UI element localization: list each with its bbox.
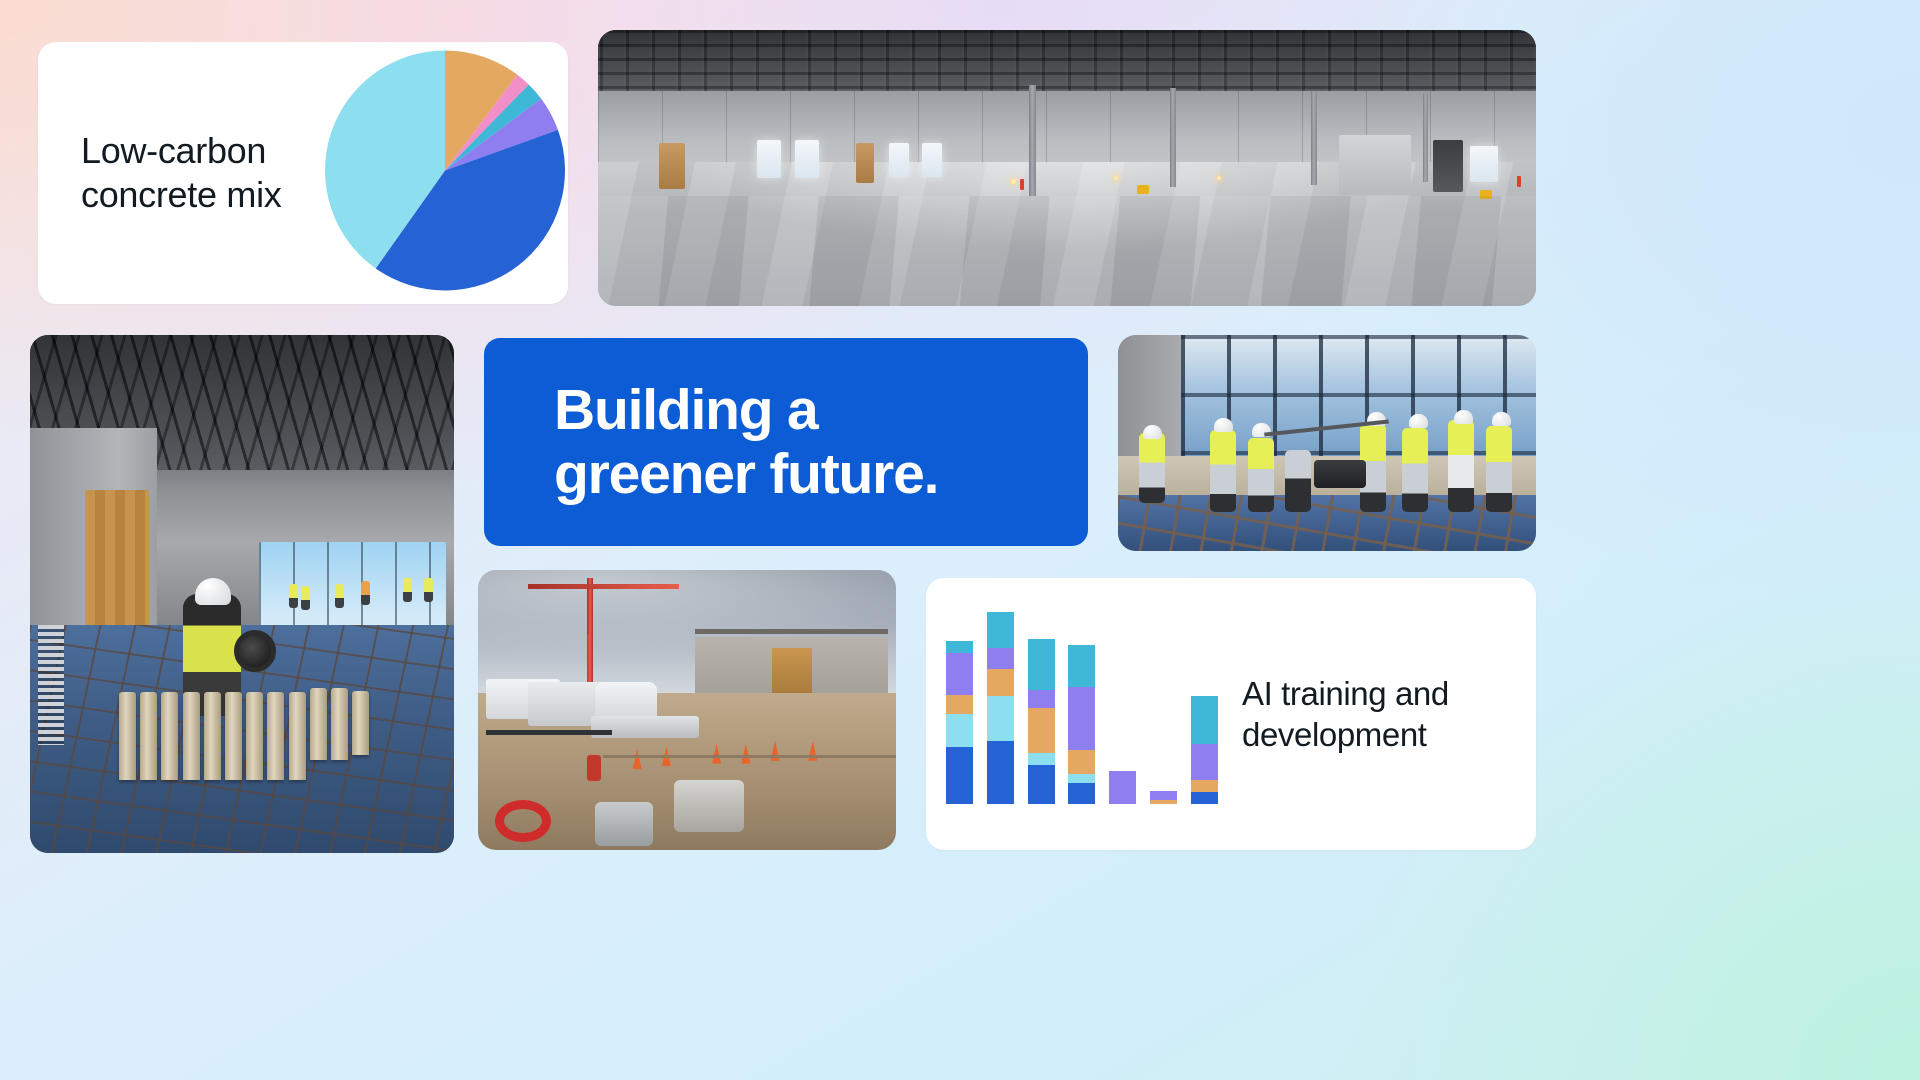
bar-segment [987,648,1014,669]
bar-segment [946,641,973,653]
bar-column [1150,791,1177,805]
pie-card-label: Low-carbon concrete mix [81,129,281,217]
bar-column [987,612,1014,804]
bar-segment [987,669,1014,696]
bar-segment [1109,771,1136,804]
bar-column [1028,639,1055,804]
bar-segment [1191,744,1218,780]
bar-column [1191,696,1218,804]
warehouse-panorama-photo [598,30,1536,306]
bar-segment [1150,800,1177,805]
bar-segment [1150,791,1177,800]
bar-segment [946,747,973,804]
bar-segment [1068,750,1095,774]
ai-training-card: AI training and development [926,578,1536,850]
bar-segment [1028,708,1055,753]
pie-chart [320,46,568,301]
collage-stage: Low-carbon concrete mix [0,0,1920,1080]
headline-text: Building a greener future. [554,378,938,507]
pie-chart-svg [320,46,568,296]
bar-segment [987,741,1014,804]
bar-segment [987,612,1014,648]
bar-segment [1028,765,1055,804]
bar-segment [1191,792,1218,804]
bar-segment [1028,690,1055,708]
headline-card: Building a greener future. [484,338,1088,546]
low-carbon-concrete-card: Low-carbon concrete mix [38,42,568,304]
bar-segment [1191,696,1218,744]
bar-segment [1068,774,1095,783]
bar-card-label: AI training and development [1242,673,1449,756]
bar-segment [946,714,973,747]
bar-segment [1028,639,1055,690]
bar-segment [1068,783,1095,804]
bar-column [1068,645,1095,804]
bar-column [1109,771,1136,804]
bar-segment [987,696,1014,741]
bar-column [946,641,973,805]
bar-segment [1068,687,1095,750]
bar-chart [946,624,1218,804]
bar-segment [1068,645,1095,687]
interior-worker-photo [30,335,454,853]
bar-segment [946,695,973,715]
crane-and-mixer-site-photo [478,570,896,850]
bar-segment [1028,753,1055,765]
concrete-pour-crew-photo [1118,335,1536,551]
bar-segment [946,653,973,695]
bar-segment [1191,780,1218,792]
